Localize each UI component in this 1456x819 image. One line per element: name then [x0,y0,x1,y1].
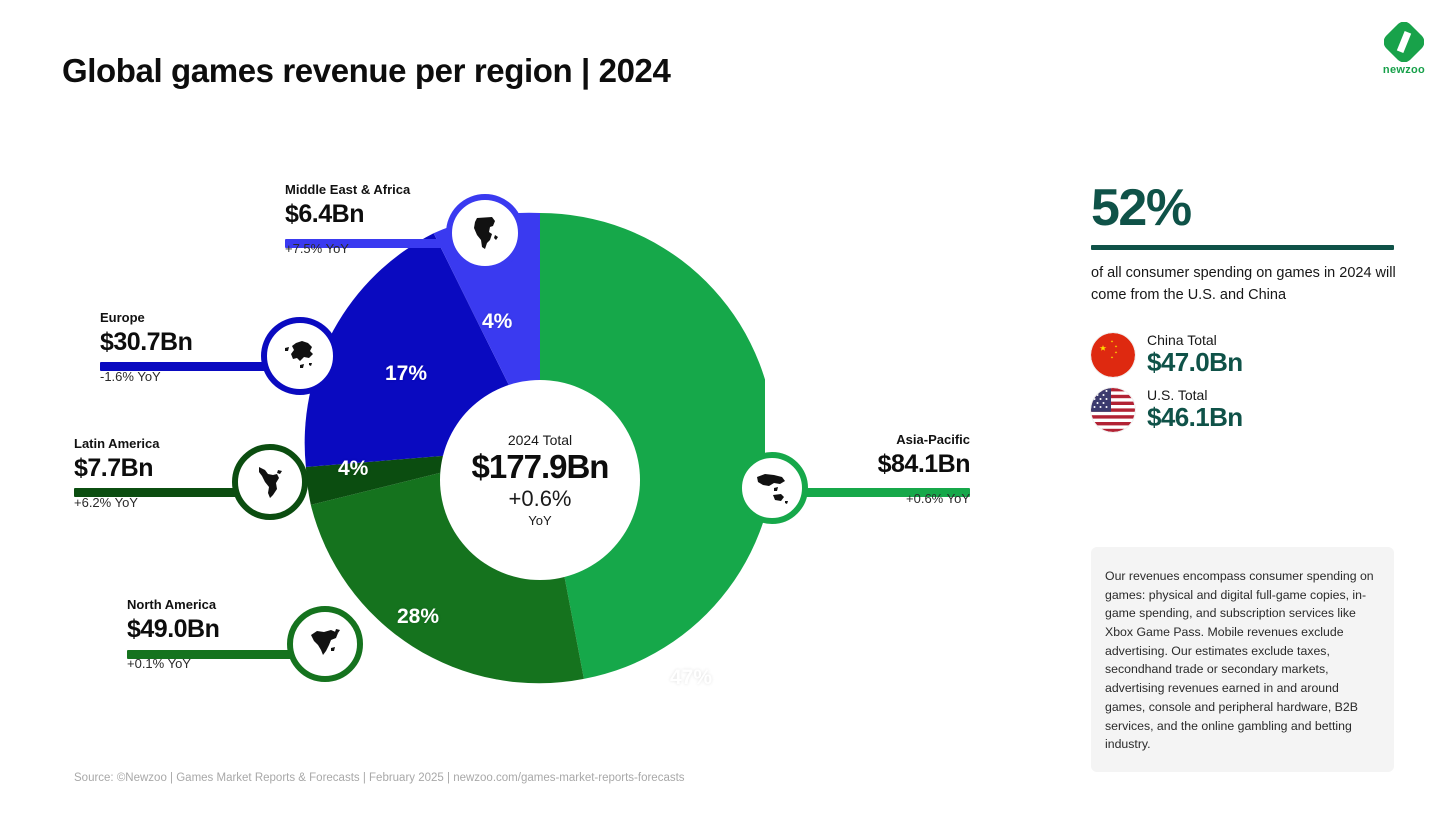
source-line: Source: ©Newzoo | Games Market Reports &… [74,772,685,784]
callout-yoy: +7.5% YoY [285,241,410,256]
page-title: Global games revenue per region | 2024 [62,52,670,90]
methodology-note-box: Our revenues encompass consumer spending… [1091,547,1394,772]
infographic-page: Global games revenue per region | 2024 n… [0,0,1456,819]
center-yoy: +0.6% [509,486,572,512]
newzoo-logo: newzoo [1376,22,1432,80]
total-label: U.S. Total [1147,387,1243,403]
asia-pacific-map-icon [752,468,792,508]
center-kicker: 2024 Total [508,432,572,448]
badge-asia-pacific [736,452,808,524]
newzoo-diamond-icon [1384,22,1424,62]
total-value: $46.1Bn [1147,403,1243,432]
total-text-china: China Total $47.0Bn [1147,332,1243,377]
latin-america-map-icon [250,462,290,502]
europe-map-icon [280,336,320,376]
center-yoy-sub: YoY [528,513,551,528]
highlight-divider [1091,245,1394,250]
callout-europe: Europe $30.7Bn -1.6% YoY [100,310,192,384]
callout-yoy: +6.2% YoY [74,495,160,510]
usa-flag-icon [1091,388,1135,432]
callout-yoy: -1.6% YoY [100,369,192,384]
total-label: China Total [1147,332,1243,348]
callout-region-label: Middle East & Africa [285,182,410,197]
total-row-china: China Total $47.0Bn [1091,332,1396,377]
methodology-note-text: Our revenues encompass consumer spending… [1105,567,1380,754]
callout-region-label: Latin America [74,436,160,451]
north-america-map-icon [305,624,345,664]
callout-asia-pacific: Asia-Pacific $84.1Bn +0.6% YoY [790,432,970,506]
callout-value: $49.0Bn [127,615,219,644]
center-total: $177.9Bn [472,450,609,485]
donut-center-total: 2024 Total $177.9Bn +0.6% YoY [440,380,640,580]
callout-value: $84.1Bn [790,450,970,479]
callout-north-america: North America $49.0Bn +0.1% YoY [127,597,219,671]
badge-latin-america [232,444,308,520]
badge-north-america [287,606,363,682]
callout-value: $7.7Bn [74,454,160,483]
callout-region-label: Europe [100,310,192,325]
newzoo-logo-text: newzoo [1376,64,1432,76]
china-flag-icon [1091,333,1135,377]
callout-value: $6.4Bn [285,200,410,229]
callout-value: $30.7Bn [100,328,192,357]
callout-latin-america: Latin America $7.7Bn +6.2% YoY [74,436,160,510]
highlight-panel: 52% of all consumer spending on games in… [1091,182,1396,443]
highlight-description: of all consumer spending on games in 202… [1091,262,1396,306]
regional-revenue-donut-chart: 4% 17% 4% 28% 47% 2024 Total $177.9Bn +0… [285,208,765,688]
africa-map-icon [465,213,505,253]
highlight-stat: 52% [1091,182,1396,234]
badge-europe [261,317,339,395]
callout-region-label: North America [127,597,219,612]
total-value: $47.0Bn [1147,348,1243,377]
badge-middle-east-africa [446,194,524,272]
country-totals-list: China Total $47.0Bn [1091,332,1396,432]
callout-middle-east-africa: Middle East & Africa $6.4Bn +7.5% YoY [285,182,410,256]
callout-yoy: +0.6% YoY [790,491,970,506]
total-row-us: U.S. Total $46.1Bn [1091,387,1396,432]
callout-yoy: +0.1% YoY [127,656,219,671]
total-text-us: U.S. Total $46.1Bn [1147,387,1243,432]
callout-region-label: Asia-Pacific [790,432,970,447]
